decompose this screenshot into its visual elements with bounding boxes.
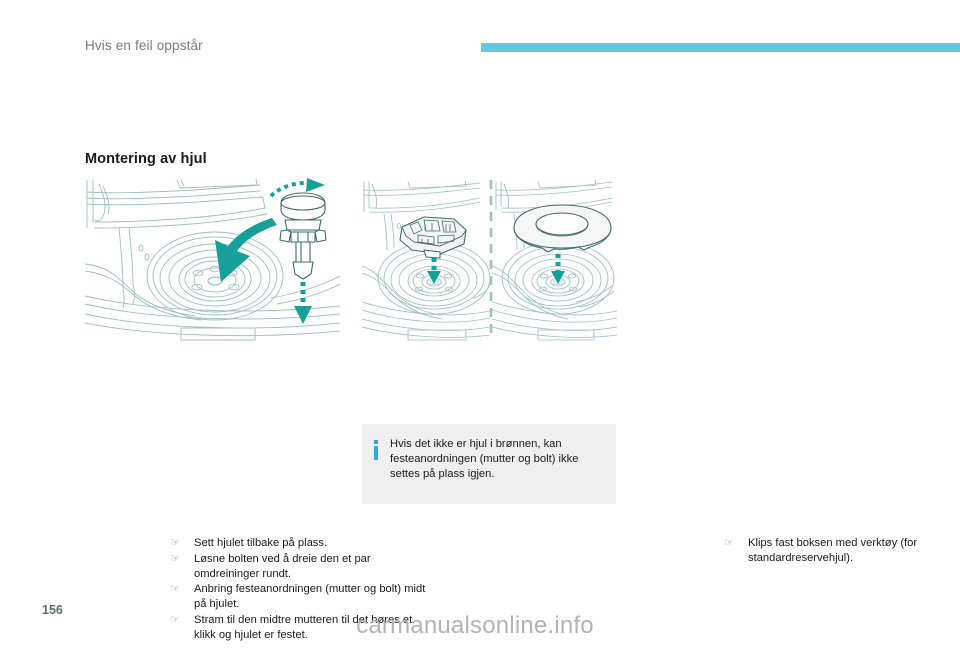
pointing-hand-icon: ☞ [724, 536, 742, 551]
list-item-text: Sett hjulet tilbake på plass. [194, 537, 327, 549]
header-rule [481, 43, 960, 52]
figure-toolbox-and-cover [362, 178, 617, 341]
wheel-bolt-assembly [280, 193, 326, 279]
list-item-text: Løsne bolten ved å dreie den et par omdr… [194, 553, 371, 580]
list-item: ☞ Sett hjulet tilbake på plass. [170, 536, 428, 551]
watermark: carmanualsonline.info [0, 612, 960, 640]
list-item: ☞ Anbring festeanordningen (mutter og bo… [170, 582, 428, 612]
pointing-hand-icon: ☞ [170, 552, 188, 567]
list-item-text: Anbring festeanordningen (mutter og bolt… [194, 583, 425, 610]
list-item: ☞ Løsne bolten ved å dreie den et par om… [170, 552, 428, 582]
dashed-down-arrow-left [427, 258, 441, 284]
info-note-box: Hvis det ikke er hjul i brønnen, kan fes… [362, 424, 616, 504]
page-header: Hvis en feil oppstår [0, 0, 960, 80]
pointing-hand-icon: ☞ [170, 582, 188, 597]
page-title: Montering av hjul [85, 151, 207, 167]
list-item: ☞ Klips fast boksen med verktøy (for sta… [724, 536, 960, 566]
running-head: Hvis en feil oppstår [85, 38, 203, 53]
toolbox-tray [400, 217, 466, 258]
wheel-cover-disc [514, 205, 611, 252]
info-note-text: Hvis det ikke er hjul i brønnen, kan fes… [390, 437, 602, 481]
left-column: ☞ Sett hjulet tilbake på plass. ☞ Løsne … [85, 178, 340, 341]
info-icon [374, 440, 378, 460]
right-column: ☞ Klips fast boksen med verktøy (for sta… [362, 178, 617, 341]
pointing-hand-icon: ☞ [170, 536, 188, 551]
figure-trunk-spare-wheel [85, 178, 340, 341]
list-item-text: Klips fast boksen med verktøy (for stand… [748, 537, 917, 564]
instruction-list-right: ☞ Klips fast boksen med verktøy (for sta… [724, 536, 960, 567]
